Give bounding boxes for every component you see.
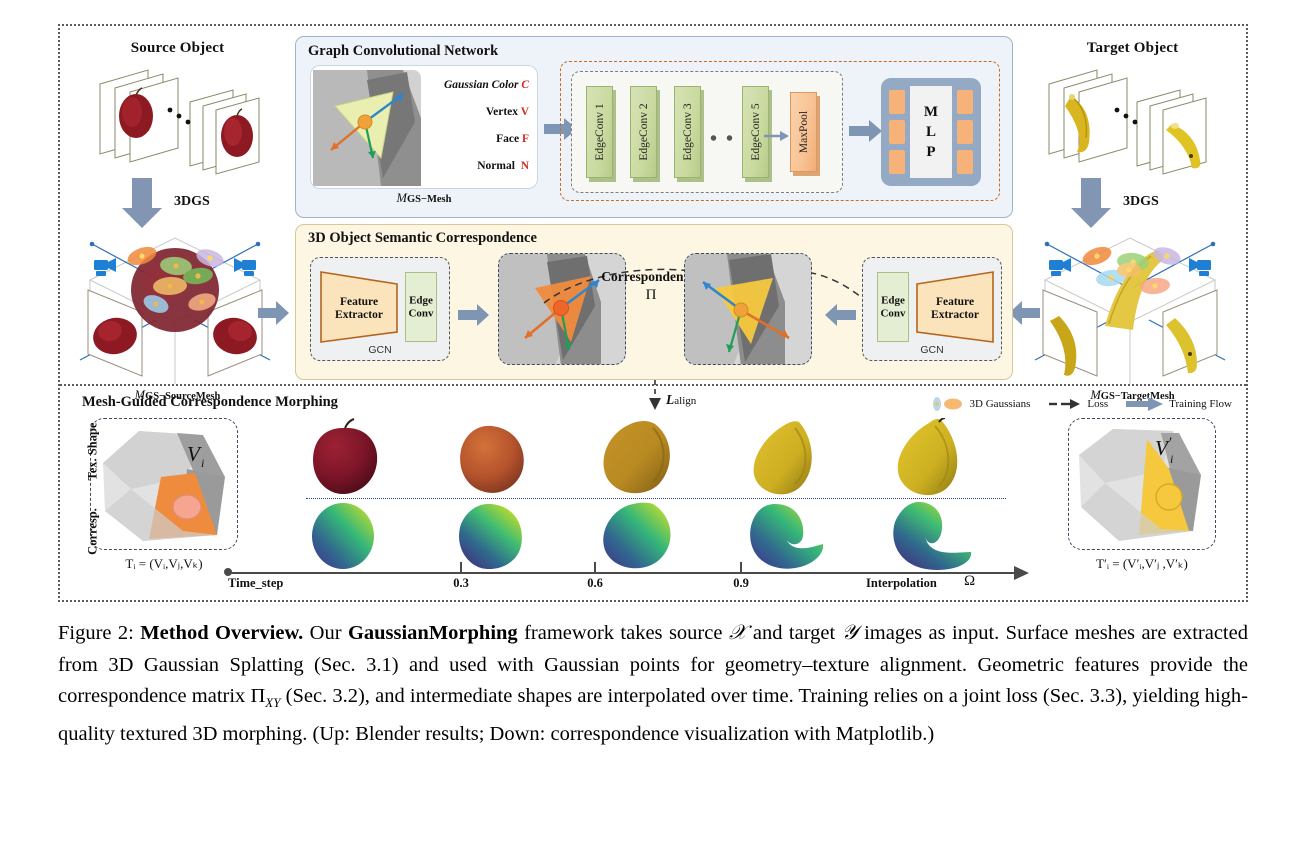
source-object-panel: Source Object — [70, 36, 285, 382]
caption-text-2: framework takes source — [518, 622, 729, 644]
tex-frame-apple-pear — [460, 426, 524, 493]
target-correspondence-mesh-card — [684, 253, 812, 365]
mlp-chip — [889, 90, 905, 114]
gcn-mesh-attribute-card: Gaussian Color C Vertex V Face F Normal … — [310, 65, 538, 189]
interpolation-axis-line — [228, 572, 1018, 574]
target-image-stack — [1025, 62, 1240, 182]
axis-caption-time-step: Time_step — [228, 576, 283, 591]
edge-conv-block-left: EdgeConv — [405, 272, 437, 342]
mlp-core: MLP — [910, 86, 952, 178]
legend-label-gaussians: 3D Gaussians — [970, 398, 1031, 410]
legend-label-loss: Loss — [1087, 398, 1108, 410]
arrow-right-gcn-to-mesh — [824, 303, 856, 327]
axis-tick-3 — [740, 562, 742, 574]
legend-label-training-flow: Training Flow — [1169, 398, 1232, 410]
source-3dgs-label: 3DGS — [174, 194, 210, 210]
source-image-stack — [70, 62, 285, 182]
edgeconv-block-1: EdgeConv 1 — [586, 86, 613, 178]
gcn-tag-left: GCN — [311, 344, 449, 356]
interpolation-axis-arrowhead — [1012, 566, 1030, 580]
camera-icon — [234, 258, 256, 276]
edgeconv-stack-region: EdgeConv 1 EdgeConv 2 EdgeConv 3 • • • E… — [571, 71, 843, 193]
tex-frame-banana-early — [754, 421, 812, 494]
morphing-band: Mesh-Guided Correspondence Morphing 3D G… — [60, 384, 1246, 600]
tex-frame-apple — [313, 419, 377, 494]
axis-tick-label-0-3: 0.3 — [441, 576, 481, 591]
legend: 3D Gaussians Loss Training Flow — [929, 396, 1232, 412]
caption-symbol-pi-sub: XY — [265, 695, 280, 710]
interpolation-axis-origin-dot — [224, 568, 232, 576]
camera-icon — [1189, 258, 1211, 276]
morphing-title: Mesh-Guided Correspondence Morphing — [82, 394, 338, 411]
edge-conv-block-right: EdgeConv — [877, 272, 909, 342]
dashed-arrow-icon — [1048, 398, 1082, 410]
caption-bold-name: GaussianMorphing — [348, 622, 518, 644]
svg-text:V: V — [187, 442, 202, 466]
block-arrow-icon — [1126, 397, 1164, 411]
edgeconv-block-3: EdgeConv 3 — [674, 86, 701, 178]
attr-gaussian-color: Gaussian Color C — [405, 72, 529, 99]
feature-extractor-label-left: FeatureExtractor — [319, 296, 399, 322]
corresp-frame-teardrop — [603, 503, 670, 569]
tex-shape-frame-row — [305, 418, 1005, 496]
axis-tick-2 — [594, 562, 596, 574]
corresp-frame-sphere — [312, 503, 374, 569]
edgeconv-block-2: EdgeConv 2 — [630, 86, 657, 178]
caption-symbol-pi: Π — [250, 685, 265, 707]
gcn-title: Graph Convolutional Network — [308, 43, 498, 60]
axis-tick-label-0-6: 0.6 — [575, 576, 615, 591]
svg-text:i: i — [201, 456, 204, 470]
row-label-corresp: Corresp. — [86, 495, 101, 569]
source-gs-mesh-diagram — [70, 224, 285, 394]
feature-extractor-label-right: FeatureExtractor — [915, 296, 995, 322]
mlp-chip — [889, 120, 905, 144]
tex-frame-pear-banana — [604, 421, 670, 493]
legend-item-loss: Loss — [1048, 398, 1108, 410]
figure-root: Source Object — [0, 0, 1299, 858]
arrow-left-gcn-to-mesh — [458, 303, 490, 327]
gcn-unit-left: FeatureExtractor EdgeConv GCN — [310, 257, 450, 361]
target-mesh-triangle-illustration — [685, 254, 812, 365]
corresp-frame-ovoid — [459, 504, 522, 569]
axis-tick-label-0-9: 0.9 — [721, 576, 761, 591]
mlp-chip — [957, 90, 973, 114]
target-object-title: Target Object — [1025, 40, 1240, 57]
arrow-pool-to-mlp — [849, 119, 883, 143]
mlp-block: MLP — [881, 78, 981, 186]
caption-figure-number: Figure 2: — [58, 622, 134, 644]
source-triangle-card: V i — [90, 418, 238, 550]
maxpool-block: MaxPool — [790, 92, 817, 172]
target-triangle-formula: T′ᵢ = (V′ᵢ,V′ⱼ ,V′ₖ) — [1042, 556, 1242, 572]
camera-icon — [1049, 258, 1071, 276]
attr-normal: Normal N — [405, 153, 529, 180]
mlp-chip — [957, 150, 973, 174]
caption-text-1: Our — [303, 622, 348, 644]
figure-caption: Figure 2: Method Overview. Our GaussianM… — [58, 618, 1248, 750]
gcn-mesh-label: MGS−Mesh — [310, 191, 538, 206]
gcn-unit-right: EdgeConv FeatureExtractor GCN — [862, 257, 1002, 361]
mlp-chip — [889, 150, 905, 174]
attr-face: Face F — [405, 126, 529, 153]
gaussian-blobs-icon — [929, 396, 965, 412]
gcn-tag-right: GCN — [863, 344, 1001, 356]
tex-frame-banana — [898, 418, 958, 495]
target-object-panel: Target Object 3DGS — [1025, 36, 1240, 382]
caption-symbol-x: 𝒳 — [729, 622, 747, 644]
caption-text-3: and target — [746, 622, 841, 644]
target-3dgs-label: 3DGS — [1123, 194, 1159, 210]
legend-item-gaussians: 3D Gaussians — [929, 396, 1031, 412]
edge-conv-label-right: EdgeConv — [878, 295, 908, 320]
axis-caption-interpolation: Interpolation — [866, 576, 937, 591]
target-triangle-illustration: V ′ i — [1069, 419, 1216, 550]
gcn-backbone-region: EdgeConv 1 EdgeConv 2 EdgeConv 3 • • • E… — [560, 61, 1000, 201]
svg-text:i: i — [1170, 452, 1173, 466]
semantic-correspondence-panel: 3D Object Semantic Correspondence Featur… — [295, 224, 1013, 380]
gcn-attribute-list: Gaussian Color C Vertex V Face F Normal … — [405, 72, 529, 180]
target-triangle-card: V ′ i — [1068, 418, 1216, 550]
axis-tick-1 — [460, 562, 462, 574]
caption-symbol-y: 𝒴 — [842, 622, 858, 644]
camera-icon — [94, 258, 116, 276]
arrow-edgeconv-to-maxpool — [764, 128, 790, 144]
corresp-frame-crescent — [893, 502, 971, 570]
arrow-source-to-semantic — [258, 300, 290, 326]
row-separator — [306, 498, 1006, 499]
edge-conv-label-left: EdgeConv — [406, 295, 436, 320]
corresp-frame-crescent-early — [750, 504, 823, 569]
mlp-chip — [957, 120, 973, 144]
legend-item-training-flow: Training Flow — [1126, 397, 1232, 411]
mlp-label: MLP — [924, 102, 938, 162]
corresp-frame-row — [305, 502, 1005, 574]
semantic-title: 3D Object Semantic Correspondence — [308, 230, 537, 247]
svg-text:′: ′ — [1169, 435, 1172, 451]
row-label-tex-shape: Tex. Shape — [86, 407, 101, 497]
source-object-title: Source Object — [70, 40, 285, 57]
attr-vertex: Vertex V — [405, 99, 529, 126]
target-gs-mesh-diagram — [1025, 224, 1240, 394]
svg-text:V: V — [1155, 436, 1170, 460]
gcn-panel: Graph Convolutional Network Gaussian Col… — [295, 36, 1013, 218]
caption-bold-lead: Method Overview. — [140, 622, 303, 644]
axis-symbol-omega: Ω — [964, 573, 975, 590]
source-triangle-illustration: V i — [91, 419, 238, 550]
